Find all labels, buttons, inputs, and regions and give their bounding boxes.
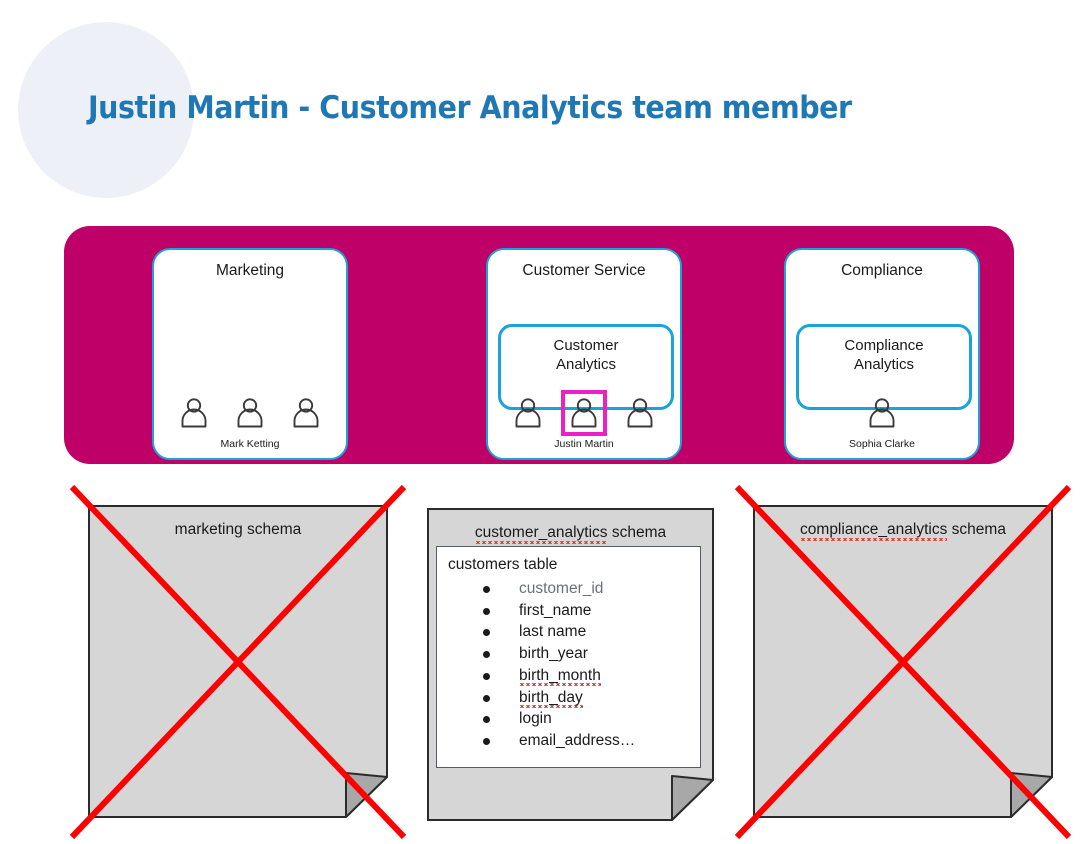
schema-field: customer_id — [483, 578, 635, 600]
analytics-team-label: Compliance Analytics — [799, 336, 969, 374]
schema-table-name: customers table — [448, 556, 557, 574]
schema-title: customer_analytics schema — [427, 524, 714, 542]
schema-title: compliance_analytics schema — [753, 521, 1053, 539]
schema-field-list: customer_id first_name last name birth_y… — [459, 578, 635, 752]
analytics-team-label-line2: Analytics — [799, 355, 969, 374]
department-card-compliance[interactable]: Compliance Compliance Analytics Sophia C… — [784, 248, 980, 460]
member-name-label: Sophia Clarke — [786, 438, 978, 450]
document-shape-icon — [88, 505, 388, 818]
person-icon[interactable] — [233, 396, 267, 430]
department-title: Customer Service — [488, 262, 680, 280]
schema-title: marketing schema — [88, 521, 388, 539]
schema-title-rest: schema — [608, 524, 667, 541]
schema-field: birth_month — [483, 665, 635, 687]
schema-title-misspelled: compliance_analytics — [800, 521, 947, 541]
schema-document-marketing[interactable]: marketing schema — [88, 505, 388, 818]
document-shape-icon — [753, 505, 1053, 818]
schema-field-label: customer_id — [519, 580, 603, 597]
schema-field: birth_year — [483, 643, 635, 665]
person-icon[interactable] — [177, 396, 211, 430]
schema-document-compliance-analytics[interactable]: compliance_analytics schema — [753, 505, 1053, 818]
schema-field-label: birth_day — [519, 689, 583, 708]
people-row — [786, 396, 978, 430]
department-card-customer-service[interactable]: Customer Service Customer Analytics — [486, 248, 682, 460]
schema-field: birth_day — [483, 687, 635, 709]
page-title: Justin Martin - Customer Analytics team … — [88, 90, 852, 126]
people-row — [488, 396, 680, 430]
schema-field-label: first_name — [519, 602, 591, 619]
schema-field: email_address… — [483, 730, 635, 752]
schema-title-rest: schema — [947, 521, 1006, 538]
schema-field: last name — [483, 621, 635, 643]
member-name-label: Justin Martin — [488, 438, 680, 450]
member-name-label: Mark Ketting — [154, 438, 346, 450]
person-icon[interactable] — [511, 396, 545, 430]
schema-field-label: login — [519, 710, 552, 727]
analytics-team-label: Customer Analytics — [501, 336, 671, 374]
analytics-team-label-line2: Analytics — [501, 355, 671, 374]
analytics-team-label-line1: Customer — [501, 336, 671, 355]
people-row — [154, 396, 346, 430]
department-card-marketing[interactable]: Marketing Mark Ketting — [152, 248, 348, 460]
analytics-team-label-line1: Compliance — [799, 336, 969, 355]
schema-field-label: email_address… — [519, 732, 635, 749]
schema-field-label: birth_month — [519, 667, 601, 686]
schema-field: login — [483, 708, 635, 730]
schema-field-label: birth_year — [519, 645, 588, 662]
person-icon-highlighted[interactable] — [567, 396, 601, 430]
department-title: Compliance — [786, 262, 978, 280]
schema-field: first_name — [483, 600, 635, 622]
schema-title-misspelled: customer_analytics — [475, 524, 608, 544]
schema-document-customer-analytics[interactable]: customer_analytics schema customers tabl… — [427, 508, 714, 821]
person-icon[interactable] — [623, 396, 657, 430]
schema-field-label: last name — [519, 623, 586, 640]
department-title: Marketing — [154, 262, 346, 280]
person-icon[interactable] — [865, 396, 899, 430]
schema-detail-panel: customers table customer_id first_name l… — [436, 546, 701, 768]
person-icon[interactable] — [289, 396, 323, 430]
